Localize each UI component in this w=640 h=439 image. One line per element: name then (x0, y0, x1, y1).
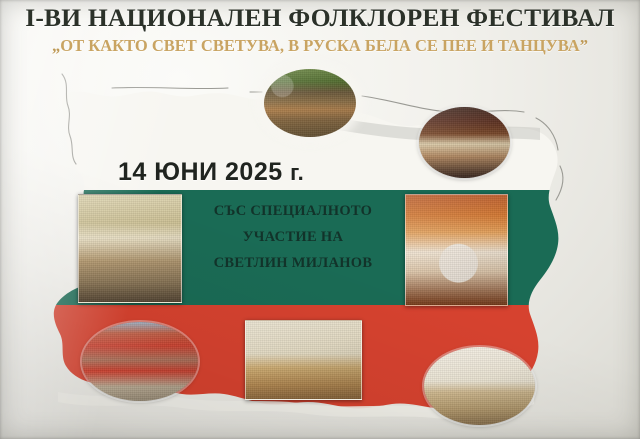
photo-group-seated (419, 107, 510, 178)
date-day: 14 (118, 158, 147, 186)
photo-grain (419, 107, 510, 178)
poster-title-block: I-ВИ НАЦИОНАЛЕН ФОЛКЛОРЕН ФЕСТИВАЛ „ОТ К… (0, 3, 640, 56)
photo-sheen (406, 195, 507, 305)
photo-dance-group-stage (78, 194, 182, 303)
guest-line-3: СВЕТЛИН МИЛАНОВ (186, 250, 400, 276)
photo-singer-microphone (405, 194, 508, 306)
photo-sheen (246, 321, 361, 399)
photo-sheen (264, 69, 356, 137)
special-guest-block: СЪС СПЕЦИАЛНОТО УЧАСТИЕ НА СВЕТЛИН МИЛАН… (186, 198, 400, 276)
guest-line-2: УЧАСТИЕ НА (186, 224, 400, 250)
photo-choir-hall (424, 347, 535, 425)
poster-subtitle: „ОТ КАКТО СВЕТ СВЕТУВА, В РУСКА БЕЛА СЕ … (0, 36, 640, 56)
guest-line-1: СЪС СПЕЦИАЛНОТО (186, 198, 400, 224)
subtitle-close-quote: ” (580, 36, 588, 55)
photo-grain (79, 195, 181, 302)
photo-sheen (79, 195, 181, 302)
photo-grain (82, 322, 198, 401)
photo-crowd-outdoor (82, 322, 198, 401)
photo-sheen (419, 107, 510, 178)
photo-sheen (424, 347, 535, 425)
photo-sheen (82, 322, 198, 401)
date-month: ЮНИ (154, 158, 217, 186)
green-band-overflow (0, 190, 74, 305)
subtitle-text: ОТ КАКТО СВЕТ СВЕТУВА, В РУСКА БЕЛА СЕ П… (60, 36, 579, 55)
photo-children-group-hall (245, 320, 362, 400)
photo-grain (264, 69, 356, 137)
date-suffix: г. (290, 160, 304, 185)
photo-dancers-forest (264, 69, 356, 137)
festival-poster: I-ВИ НАЦИОНАЛЕН ФОЛКЛОРЕН ФЕСТИВАЛ „ОТ К… (0, 0, 640, 439)
photo-grain (246, 321, 361, 399)
date-year: 2025 (225, 158, 283, 186)
festival-date: 14 ЮНИ 2025 г. (118, 158, 304, 187)
photo-grain (424, 347, 535, 425)
photo-grain (406, 195, 507, 305)
poster-title: I-ВИ НАЦИОНАЛЕН ФОЛКЛОРЕН ФЕСТИВАЛ (0, 3, 640, 33)
